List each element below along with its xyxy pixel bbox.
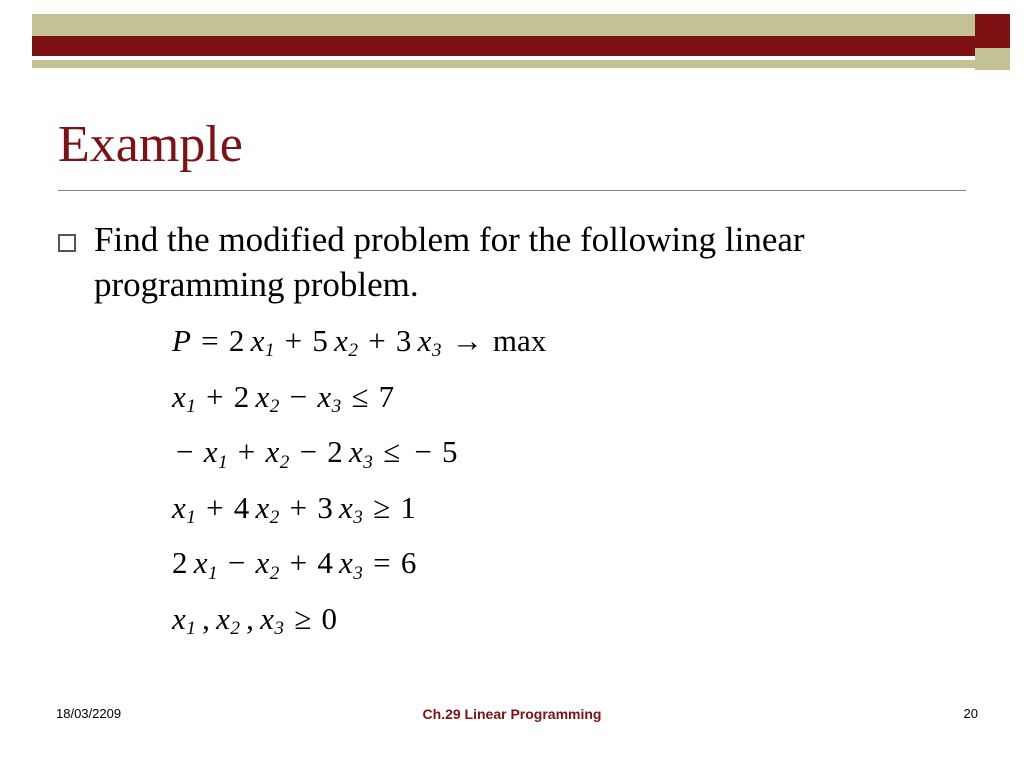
page-title: Example [58,116,243,173]
header-bar-khaki-bottom [32,60,984,68]
equation-nonnegativity: x1 , x2 , x3 ≥ 0 [172,603,553,639]
slide: Example Find the modified problem for th… [0,0,1024,768]
equation-constraint-3: x1 + 4 x2 + 3 x3 ≥ 1 [172,492,553,528]
equation-constraint-4: 2 x1 − x2 + 4 x3 = 6 [172,547,553,583]
header-corner-khaki [975,48,1010,70]
equation-constraint-1: x1 + 2 x2 − x3 ≤ 7 [172,381,553,417]
header-corner-maroon [975,14,1010,48]
footer-chapter-title: Ch.29 Linear Programming [0,706,1024,722]
equation-list: P = 2 x1 + 5 x2 + 3 x3 → max x1 + 2 x2 −… [172,325,553,659]
equation-objective: P = 2 x1 + 5 x2 + 3 x3 → max [172,325,553,361]
title-divider [58,190,966,191]
square-outline-bullet-icon [58,234,76,252]
bullet-item-label: Find the modified problem for the follow… [94,218,968,308]
header-bar-khaki-top [32,14,984,36]
equation-constraint-2: − x1 + x2 − 2 x3 ≤ − 5 [172,436,553,472]
header-bar-maroon [32,36,984,56]
bullet-item: Find the modified problem for the follow… [58,218,968,308]
footer-page-number: 20 [964,706,978,721]
